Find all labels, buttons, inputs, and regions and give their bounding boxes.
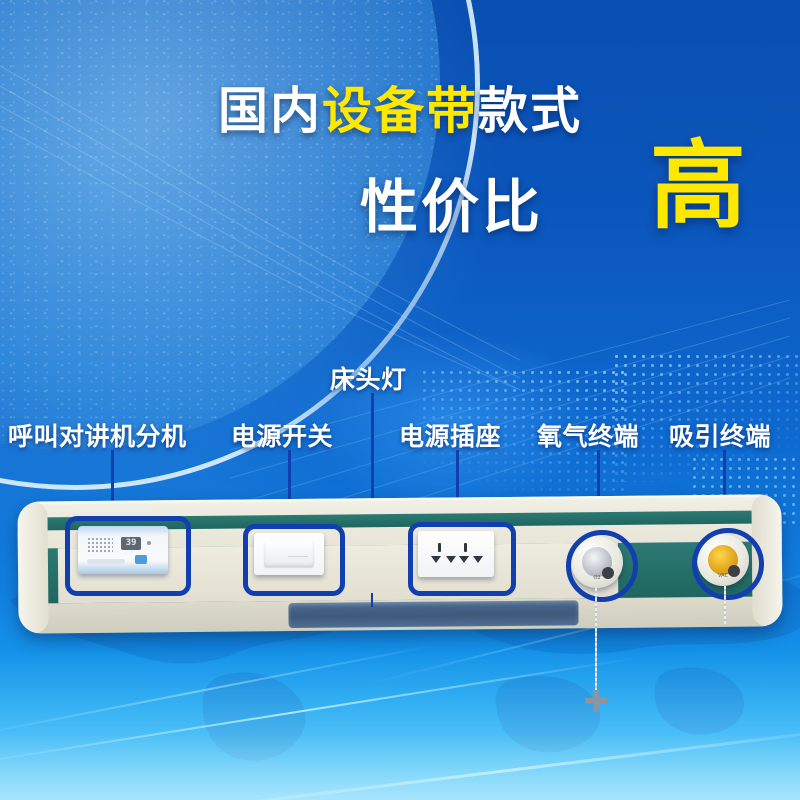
callout-label-bed-lamp: 床头灯 bbox=[330, 360, 407, 396]
promo-banner: 国内设备带款式 性价比 高 呼叫对讲机分机 电源开关 床头灯 电源插座 氧气终端… bbox=[0, 0, 800, 800]
highlight-box-switch bbox=[243, 524, 345, 596]
callout-label-suction: 吸引终端 bbox=[669, 417, 771, 453]
headline-accent-char: 高 bbox=[650, 138, 746, 234]
headline-block: 国内设备带款式 性价比 高 bbox=[0, 86, 800, 136]
headline-line-1: 国内设备带款式 bbox=[0, 86, 800, 136]
oxygen-pull-cord[interactable] bbox=[595, 588, 597, 696]
leader-line-bed-lamp-tail bbox=[371, 593, 373, 607]
bottom-light-haze bbox=[0, 650, 800, 800]
highlight-ring-oxygen bbox=[566, 530, 638, 602]
headline-seg-2: 设备带 bbox=[322, 82, 478, 140]
panel-end-cap-left bbox=[17, 501, 48, 633]
headline-seg-1: 国内 bbox=[218, 82, 322, 140]
highlight-box-intercom bbox=[65, 516, 191, 596]
suction-pull-cord[interactable] bbox=[724, 586, 726, 624]
highlight-ring-suction bbox=[692, 528, 764, 600]
callout-label-oxygen: 氧气终端 bbox=[537, 417, 639, 453]
highlight-box-socket bbox=[408, 522, 516, 596]
callout-label-switch: 电源开关 bbox=[231, 417, 333, 453]
headline-seg-3: 款式 bbox=[478, 82, 582, 140]
headline-value-phrase: 性价比 bbox=[360, 160, 543, 244]
callout-label-intercom: 呼叫对讲机分机 bbox=[8, 417, 187, 453]
panel-lower-rail bbox=[288, 600, 578, 628]
callout-label-socket: 电源插座 bbox=[399, 417, 501, 453]
